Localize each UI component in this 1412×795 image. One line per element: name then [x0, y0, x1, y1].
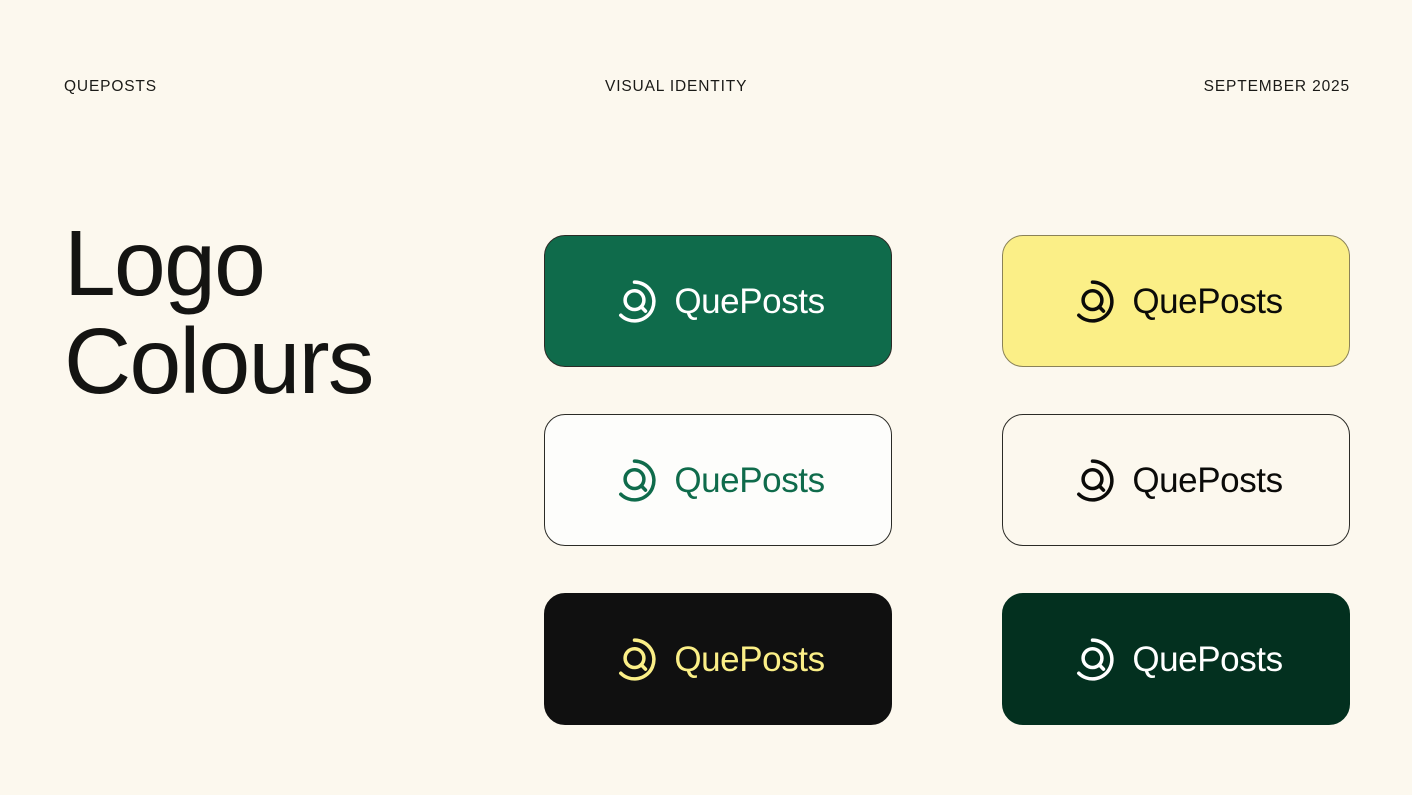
header-date: SEPTEMBER 2025	[1204, 78, 1350, 96]
logo-swatch-card[interactable]: QuePosts	[544, 414, 892, 546]
logo-lockup: QuePosts	[1069, 457, 1282, 504]
logo-lockup: QuePosts	[611, 636, 824, 683]
quepost-logo-icon	[611, 636, 658, 683]
logo-lockup: QuePosts	[1069, 636, 1282, 683]
quepost-logo-icon	[1069, 636, 1116, 683]
page-title: Logo Colours	[64, 214, 484, 410]
page-title-line-2: Colours	[64, 312, 484, 410]
header-brand-name: QUEPOSTS	[64, 78, 157, 96]
logo-colourway-grid: QuePosts QuePosts	[544, 235, 1350, 725]
logo-lockup: QuePosts	[1069, 278, 1282, 325]
logo-wordmark: QuePosts	[674, 642, 824, 677]
logo-wordmark: QuePosts	[674, 284, 824, 319]
header-section-label: VISUAL IDENTITY	[605, 78, 747, 96]
quepost-logo-icon	[1069, 457, 1116, 504]
brand-guideline-page: QUEPOSTS VISUAL IDENTITY SEPTEMBER 2025 …	[0, 0, 1412, 795]
logo-lockup: QuePosts	[611, 278, 824, 325]
quepost-logo-icon	[1069, 278, 1116, 325]
logo-wordmark: QuePosts	[674, 463, 824, 498]
logo-swatch-card[interactable]: QuePosts	[1002, 414, 1350, 546]
logo-swatch-card[interactable]: QuePosts	[1002, 235, 1350, 367]
logo-swatch-card[interactable]: QuePosts	[1002, 593, 1350, 725]
logo-wordmark: QuePosts	[1132, 463, 1282, 498]
logo-swatch-card[interactable]: QuePosts	[544, 593, 892, 725]
page-title-line-1: Logo	[64, 214, 484, 312]
quepost-logo-icon	[611, 457, 658, 504]
page-header: QUEPOSTS VISUAL IDENTITY SEPTEMBER 2025	[64, 76, 1350, 98]
logo-wordmark: QuePosts	[1132, 284, 1282, 319]
quepost-logo-icon	[611, 278, 658, 325]
logo-wordmark: QuePosts	[1132, 642, 1282, 677]
logo-lockup: QuePosts	[611, 457, 824, 504]
logo-swatch-card[interactable]: QuePosts	[544, 235, 892, 367]
